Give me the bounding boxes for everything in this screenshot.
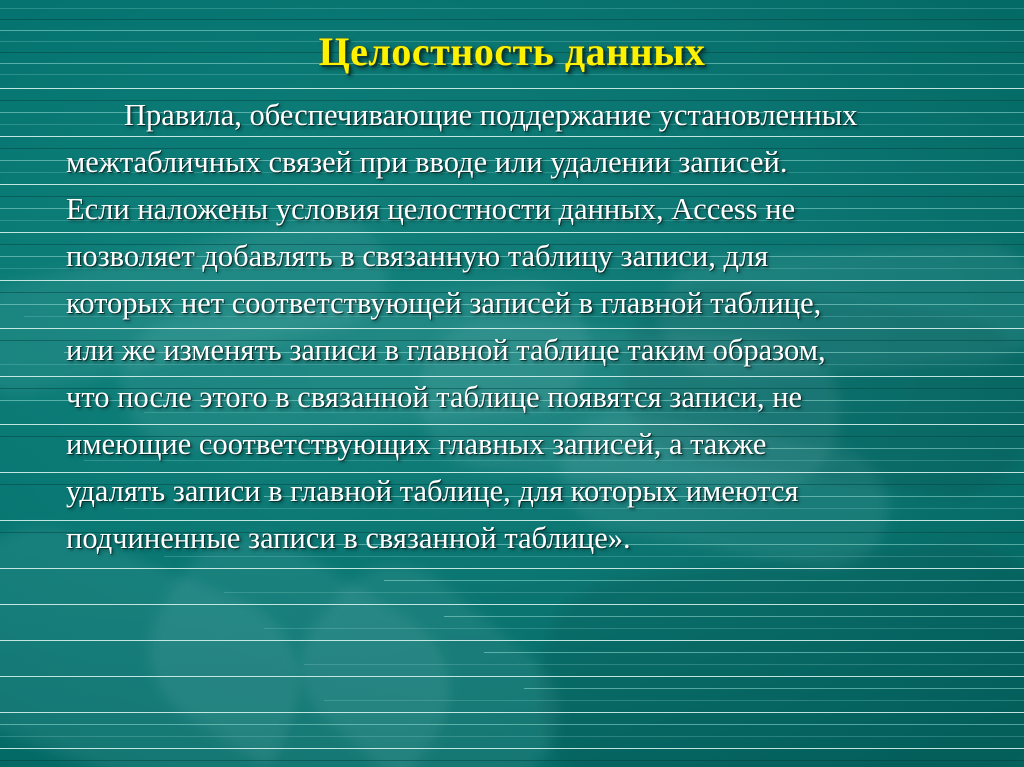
presentation-slide: Целостность данных Правила, обеспечивающ… (0, 0, 1024, 767)
body-line: Если наложены условия целостности данных… (8, 186, 1016, 233)
body-line: или же изменять записи в главной таблице… (8, 327, 1016, 374)
body-line: межтабличных связей при вводе или удален… (8, 139, 1016, 186)
body-line: подчиненные записи в связанной таблице». (8, 515, 1016, 562)
body-line: что после этого в связанной таблице появ… (8, 374, 1016, 421)
body-line: которых нет соответствующей записей в гл… (8, 280, 1016, 327)
body-line: позволяет добавлять в связанную таблицу … (8, 233, 1016, 280)
page-title: Целостность данных (0, 28, 1024, 75)
body-text-block: Правила, обеспечивающие поддержание уста… (8, 92, 1016, 562)
slide-content: Целостность данных Правила, обеспечивающ… (0, 0, 1024, 767)
body-paragraph: Правила, обеспечивающие поддержание уста… (8, 92, 1016, 562)
body-line: имеющие соответствующих главных записей,… (8, 421, 1016, 468)
body-line: Правила, обеспечивающие поддержание уста… (8, 92, 1016, 139)
body-line: удалять записи в главной таблице, для ко… (8, 468, 1016, 515)
